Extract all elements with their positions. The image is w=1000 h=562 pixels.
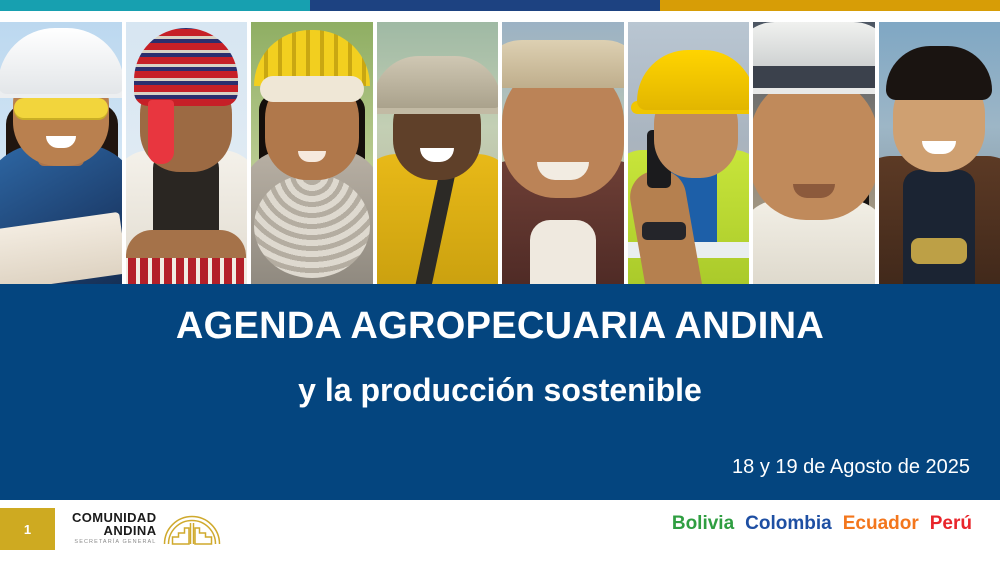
beaded-necklace	[254, 174, 370, 278]
event-date: 18 y 19 de Agosto de 2025	[732, 456, 970, 479]
comunidad-andina-logo: COMUNIDAD ANDINA SECRETARÍA GENERAL	[72, 511, 221, 546]
andean-arch-logo-icon	[163, 511, 221, 545]
title-band: AGENDA AGROPECUARIA ANDINA y la producci…	[0, 284, 1000, 500]
top-bar-segment-gold	[660, 0, 1000, 11]
photo-panel-construction-worker	[628, 22, 750, 284]
photo-panel-indigenous-woman	[251, 22, 373, 284]
photo-panel-andean-weaver	[126, 22, 248, 284]
t-shirt	[903, 170, 975, 284]
photo-panel-market-man	[377, 22, 499, 284]
photo-strip	[0, 22, 1000, 284]
country-peru: Perú	[930, 513, 972, 535]
logo-wordmark: COMUNIDAD ANDINA SECRETARÍA GENERAL	[72, 511, 156, 546]
photo-panel-engineer-woman	[0, 22, 122, 284]
country-colombia: Colombia	[745, 513, 832, 535]
photo-panel-elderly-woman	[502, 22, 624, 284]
top-bar-segment-blue	[310, 0, 660, 11]
wristwatch-icon	[642, 222, 686, 240]
logo-line-secretaria-general: SECRETARÍA GENERAL	[72, 540, 156, 546]
slide-subtitle: y la producción sostenible	[0, 372, 1000, 409]
slide-title: AGENDA AGROPECUARIA ANDINA	[0, 306, 1000, 348]
country-bolivia: Bolivia	[672, 513, 734, 535]
page-number-badge: 1	[0, 508, 55, 550]
photo-panel-young-girl	[753, 22, 875, 284]
safety-glasses-icon	[14, 98, 108, 118]
face	[753, 76, 875, 220]
country-ecuador: Ecuador	[843, 513, 919, 535]
straw-hat-icon	[377, 56, 499, 108]
hat-tassel	[148, 100, 174, 164]
photo-panel-young-man	[879, 22, 1000, 284]
t-shirt-graphic	[911, 238, 967, 264]
top-bar-segment-teal	[0, 0, 310, 11]
straw-hat-icon	[502, 40, 624, 88]
presentation-slide: AGENDA AGROPECUARIA ANDINA y la producci…	[0, 0, 1000, 562]
member-countries-list: Bolivia Colombia Ecuador Perú	[672, 513, 972, 535]
slide-footer: 1 COMUNIDAD ANDINA SECRETARÍA GENERAL Bo…	[0, 500, 1000, 562]
andean-hat-icon	[753, 22, 875, 66]
collar	[530, 220, 596, 284]
woven-textile	[126, 258, 248, 284]
logo-line-andina: ANDINA	[72, 524, 156, 537]
top-color-bar	[0, 0, 1000, 11]
head-band	[260, 76, 364, 102]
